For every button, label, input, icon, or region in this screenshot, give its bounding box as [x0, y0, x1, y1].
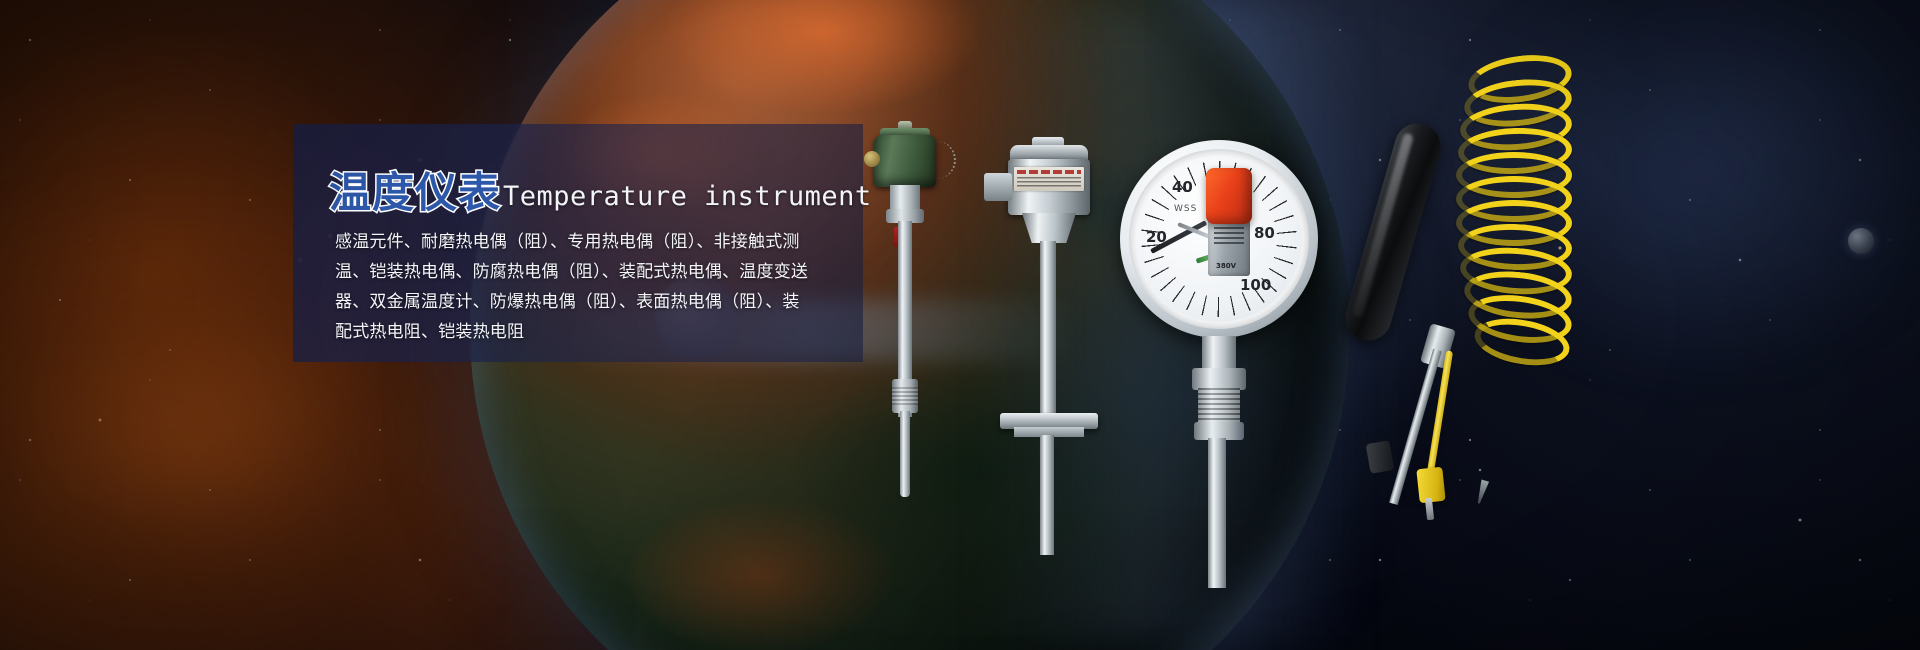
description-line-4: 配式热电阻、铠装热电阻 — [335, 317, 840, 347]
description-text: 感温元件、耐磨热电偶（阻）、专用热电偶（阻）、非接触式测 温、铠装热电偶、防腐热… — [335, 227, 840, 347]
tc-b-stem — [1040, 241, 1056, 419]
gauge-probe-stem — [1208, 438, 1226, 588]
tc-b-side-port — [984, 173, 1012, 201]
tc-a-probe — [900, 411, 910, 497]
thermocouple-flanged — [970, 145, 1110, 505]
tc-b-nameplate — [1014, 167, 1084, 191]
gauge-label-100: 100 — [1240, 276, 1271, 294]
gauge-brand-text: WSS — [1174, 204, 1197, 214]
handheld-probe-yellow-coil — [1310, 50, 1670, 530]
tc-b-probe — [1040, 435, 1054, 555]
tc-a-neck — [890, 185, 920, 211]
tc-a-gland — [892, 379, 918, 413]
text-panel-inner: 温度仪表 Temperature instrument 感温元件、耐磨热电偶（阻… — [293, 124, 863, 362]
gauge-neck — [1202, 336, 1236, 370]
page-title-en: Temperature instrument — [503, 181, 872, 214]
description-line-2: 温、铠装热电偶、防腐热电偶（阻）、装配式热电偶、温度变送 — [335, 257, 840, 287]
cable-connector-black — [1366, 440, 1395, 474]
gauge-threaded-fitting — [1198, 388, 1240, 424]
gauge-hex-nut — [1192, 368, 1246, 390]
gauge-voltage-text: 380V — [1216, 262, 1236, 270]
gauge-label-80: 80 — [1254, 224, 1275, 242]
thermocouple-green-head — [850, 135, 960, 495]
gauge-label-40: 40 — [1172, 178, 1193, 196]
page-title-cn: 温度仪表 — [329, 172, 501, 214]
tc-a-chain — [932, 141, 956, 179]
tc-a-brass-lug — [864, 151, 880, 167]
description-line-3: 器、双金属温度计、防爆热电偶（阻）、表面热电偶（阻）、装 — [335, 287, 840, 317]
tc-b-taper — [1022, 213, 1076, 243]
description-line-1: 感温元件、耐磨热电偶（阻）、专用热电偶（阻）、非接触式测 — [335, 227, 840, 257]
probe-tip — [1475, 479, 1489, 504]
title-row: 温度仪表 Temperature instrument — [329, 172, 841, 214]
text-panel: 温度仪表 Temperature instrument 感温元件、耐磨热电偶（阻… — [293, 124, 863, 362]
banner-stage: 温度仪表 Temperature instrument 感温元件、耐磨热电偶（阻… — [0, 0, 1920, 650]
tc-a-head — [874, 135, 936, 187]
instrument-group: 20 40 60 80 100 WSS 380V — [820, 0, 1920, 650]
gauge-red-adjuster — [1206, 168, 1252, 224]
